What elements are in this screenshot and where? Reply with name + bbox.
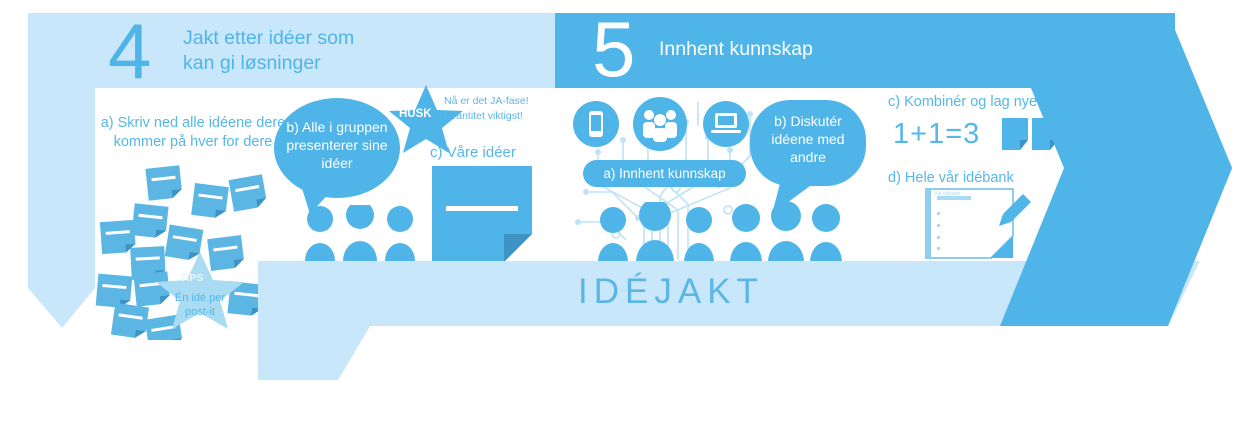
tips-caption: Én idé per post-it — [155, 292, 245, 320]
step4-bubble-b: b) Alle i gruppen presenterer sine idéer — [277, 118, 397, 173]
tips-star-label: TIPS — [180, 272, 203, 284]
people-group-icon — [643, 110, 677, 142]
step4-title-line1: Jakt etter idéer som — [183, 26, 513, 51]
step4-title: Jakt etter idéer som kan gi løsninger — [183, 26, 513, 76]
step5-number: 5 — [592, 10, 635, 88]
laptop-icon — [711, 113, 741, 133]
phone-icon — [589, 111, 603, 137]
step5-pill-a-label: a) Innhent kunnskap — [583, 166, 746, 181]
husk-note-line2: Kvantitet viktigst! — [444, 109, 564, 124]
husk-star-label: HUSK — [399, 108, 432, 120]
process-arrow-head — [1000, 13, 1240, 328]
step4-number: 4 — [108, 12, 151, 90]
husk-note-line1: Nå er det JA-fase! — [444, 94, 564, 109]
tips-caption-line2: post-it — [155, 306, 245, 320]
step5-equation: 1+1=3 — [893, 118, 980, 151]
step5-item-d: d) Hele vår idébank — [888, 170, 1014, 186]
idejakt-title: IDÉJAKT — [578, 272, 764, 312]
husk-note: Nå er det JA-fase! Kvantitet viktigst! — [444, 94, 564, 124]
tips-caption-line1: Én idé per — [155, 292, 245, 306]
vare-ideer-note-icon — [432, 166, 532, 262]
step5-bubble-b: b) Diskutér idéene med andre — [752, 112, 864, 167]
knowledge-source-icons — [572, 96, 752, 152]
step5-people-icon — [595, 202, 720, 262]
infographic-canvas: 4 Jakt etter idéer som kan gi løsninger … — [0, 0, 1240, 433]
step5-people-icon-2 — [728, 200, 843, 262]
idebank-notebook-label: Vår idébank — [934, 191, 961, 197]
step4-people-icon — [300, 205, 420, 261]
step4-title-line2: kan gi løsninger — [183, 51, 513, 76]
step4-item-a: a) Skriv ned alle idéene dere kommer på … — [100, 114, 286, 152]
step4-item-c: c) Våre idéer — [430, 144, 516, 161]
